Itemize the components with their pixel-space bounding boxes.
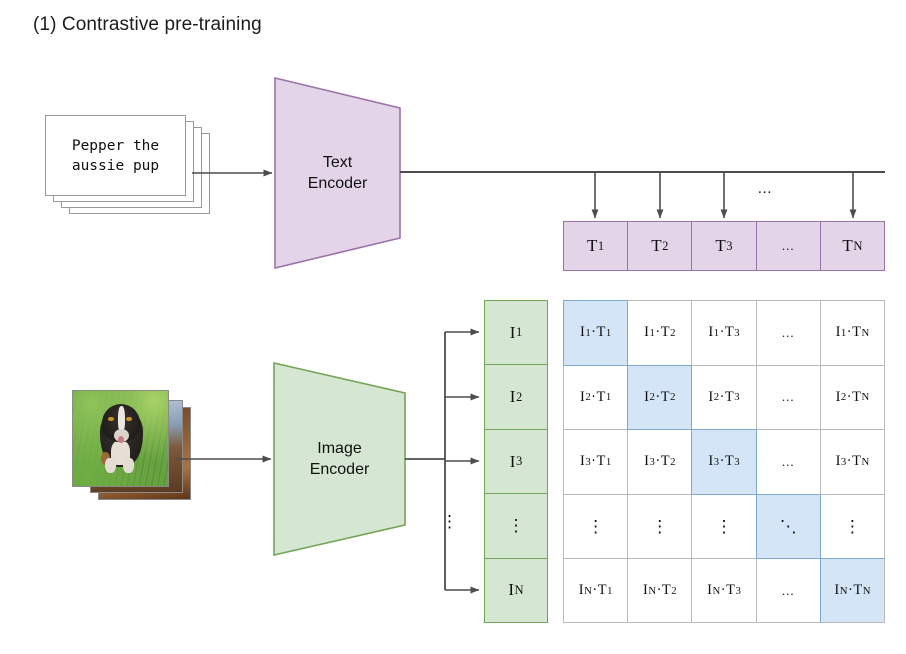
diagonal-ellipsis-glyph: ⋱	[780, 518, 797, 535]
ellipsis-glyph: ...	[782, 325, 795, 341]
ellipsis-glyph: ...	[782, 238, 795, 254]
matrix-cell-positive-pair[interactable]: I1·T1	[563, 300, 627, 365]
vertical-ellipsis-glyph: ⋮	[651, 518, 668, 535]
image-encoder-shape[interactable]	[274, 363, 405, 555]
matrix-cell-positive-pair[interactable]: ⋱	[756, 494, 820, 559]
matrix-cell[interactable]: ...	[756, 365, 820, 430]
vertical-ellipsis-glyph: ⋮	[587, 518, 604, 535]
image-embedding-cell[interactable]: I1	[484, 300, 548, 364]
matrix-cell-positive-pair[interactable]: I3·T3	[691, 429, 755, 494]
matrix-cell[interactable]: I3·T1	[563, 429, 627, 494]
vertical-ellipsis-glyph: ⋮	[508, 517, 525, 534]
matrix-row: ⋮⋮⋮⋱⋮	[563, 494, 885, 559]
text-embedding-cell[interactable]: T2	[627, 221, 691, 271]
text-embedding-cell[interactable]: TN	[820, 221, 885, 271]
matrix-cell[interactable]: ⋮	[627, 494, 691, 559]
text-encoder-shape[interactable]	[275, 78, 400, 268]
matrix-cell[interactable]: I2·T3	[691, 365, 755, 430]
ellipsis-glyph: ...	[782, 454, 795, 470]
matrix-cell-positive-pair[interactable]: I2·T2	[627, 365, 691, 430]
matrix-cell[interactable]: IN·T1	[563, 558, 627, 623]
ellipsis-glyph: ...	[782, 583, 795, 599]
image-embedding-cell[interactable]: I3	[484, 429, 548, 493]
matrix-cell[interactable]: IN·T2	[627, 558, 691, 623]
matrix-row: IN·T1IN·T2IN·T3...IN·TN	[563, 558, 885, 623]
matrix-cell[interactable]: I1·T3	[691, 300, 755, 365]
image-embedding-cell[interactable]: IN	[484, 558, 548, 623]
matrix-cell[interactable]: ...	[756, 429, 820, 494]
diagram-canvas: (1) Contrastive pre-training Pepper the …	[0, 0, 906, 654]
matrix-cell[interactable]: I2·T1	[563, 365, 627, 430]
text-embedding-cell-ellipsis[interactable]: ...	[756, 221, 820, 271]
text-embedding-cell[interactable]: T3	[691, 221, 755, 271]
matrix-cell[interactable]: ...	[756, 300, 820, 365]
image-embedding-cell-ellipsis[interactable]: ⋮	[484, 493, 548, 557]
matrix-row: I1·T1I1·T2I1·T3...I1·TN	[563, 300, 885, 365]
image-embedding-column: I1I2I3⋮IN	[484, 300, 548, 623]
ellipsis-glyph: ...	[782, 389, 795, 405]
matrix-cell[interactable]: I1·TN	[820, 300, 885, 365]
matrix-cell-positive-pair[interactable]: IN·TN	[820, 558, 885, 623]
image-embedding-cell[interactable]: I2	[484, 364, 548, 428]
matrix-row: I3·T1I3·T2I3·T3...I3·TN	[563, 429, 885, 494]
matrix-cell[interactable]: ⋮	[691, 494, 755, 559]
vertical-ellipsis-glyph: ⋮	[716, 518, 733, 535]
matrix-cell[interactable]: ⋮	[820, 494, 885, 559]
matrix-cell[interactable]: ...	[756, 558, 820, 623]
similarity-matrix: I1·T1I1·T2I1·T3...I1·TNI2·T1I2·T2I2·T3..…	[563, 300, 885, 623]
matrix-cell[interactable]: I1·T2	[627, 300, 691, 365]
matrix-cell[interactable]: I3·T2	[627, 429, 691, 494]
text-embedding-cell[interactable]: T1	[563, 221, 627, 271]
matrix-cell[interactable]: IN·T3	[691, 558, 755, 623]
matrix-cell[interactable]: I3·TN	[820, 429, 885, 494]
matrix-cell[interactable]: ⋮	[563, 494, 627, 559]
matrix-row: I2·T1I2·T2I2·T3...I2·TN	[563, 365, 885, 430]
matrix-cell[interactable]: I2·TN	[820, 365, 885, 430]
vertical-ellipsis-glyph: ⋮	[844, 518, 861, 535]
text-embedding-row: T1T2T3...TN	[563, 221, 885, 271]
